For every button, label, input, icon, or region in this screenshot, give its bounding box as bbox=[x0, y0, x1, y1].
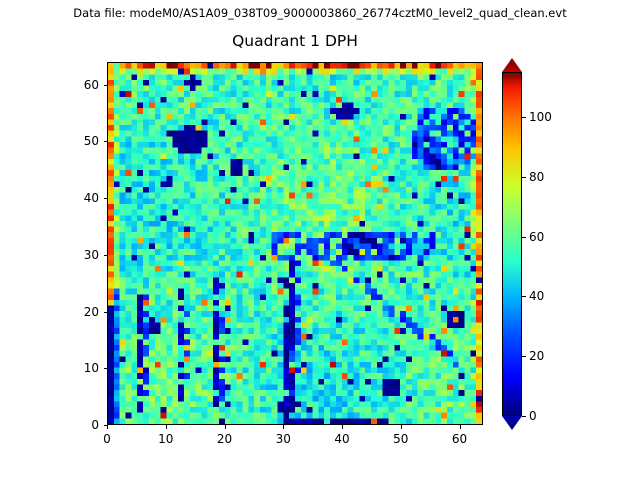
x-tick-label: 30 bbox=[276, 432, 291, 446]
y-tick-label: 50 bbox=[65, 134, 99, 148]
colorbar-tick-mark bbox=[522, 117, 526, 118]
page-title: Quadrant 1 DPH bbox=[107, 32, 483, 51]
y-tick-label: 10 bbox=[65, 361, 99, 375]
colorbar-tick-mark bbox=[522, 177, 526, 178]
colorbar-tick-mark bbox=[522, 356, 526, 357]
y-tick-label: 0 bbox=[65, 418, 99, 432]
y-tick-label: 40 bbox=[65, 191, 99, 205]
data-file-caption: Data file: modeM0/AS1A09_038T09_90000038… bbox=[0, 6, 640, 20]
colorbar[interactable]: 020406080100 bbox=[502, 58, 622, 430]
x-tick-label: 40 bbox=[334, 432, 349, 446]
colorbar-gradient bbox=[502, 72, 522, 416]
colorbar-tick-label: 0 bbox=[529, 409, 537, 423]
x-tick-mark bbox=[460, 425, 461, 429]
colorbar-tick-mark bbox=[522, 237, 526, 238]
heatmap-axes[interactable] bbox=[107, 62, 483, 425]
y-tick-label: 60 bbox=[65, 78, 99, 92]
figure-canvas: Data file: modeM0/AS1A09_038T09_90000038… bbox=[0, 0, 640, 480]
colorbar-extend-max-arrow-icon bbox=[502, 58, 522, 72]
heatmap-image bbox=[108, 63, 482, 424]
x-tick-label: 10 bbox=[158, 432, 173, 446]
colorbar-tick-mark bbox=[522, 296, 526, 297]
colorbar-tick-label: 60 bbox=[529, 230, 544, 244]
x-tick-mark bbox=[283, 425, 284, 429]
x-tick-mark bbox=[401, 425, 402, 429]
colorbar-tick-label: 40 bbox=[529, 289, 544, 303]
colorbar-tick-mark bbox=[522, 416, 526, 417]
x-tick-mark bbox=[342, 425, 343, 429]
x-tick-mark bbox=[225, 425, 226, 429]
y-tick-mark bbox=[104, 198, 108, 199]
colorbar-tick-label: 100 bbox=[529, 110, 552, 124]
colorbar-tick-label: 20 bbox=[529, 349, 544, 363]
y-tick-mark bbox=[104, 425, 108, 426]
x-tick-label: 60 bbox=[452, 432, 467, 446]
x-tick-mark bbox=[107, 425, 108, 429]
x-tick-label: 0 bbox=[103, 432, 111, 446]
y-tick-label: 30 bbox=[65, 248, 99, 262]
y-tick-mark bbox=[104, 255, 108, 256]
colorbar-tick-label: 80 bbox=[529, 170, 544, 184]
x-tick-label: 20 bbox=[217, 432, 232, 446]
y-tick-mark bbox=[104, 85, 108, 86]
x-tick-mark bbox=[166, 425, 167, 429]
y-tick-label: 20 bbox=[65, 305, 99, 319]
y-tick-mark bbox=[104, 141, 108, 142]
colorbar-extend-min-arrow-icon bbox=[502, 416, 522, 430]
y-tick-mark bbox=[104, 312, 108, 313]
x-tick-label: 50 bbox=[393, 432, 408, 446]
y-tick-mark bbox=[104, 368, 108, 369]
